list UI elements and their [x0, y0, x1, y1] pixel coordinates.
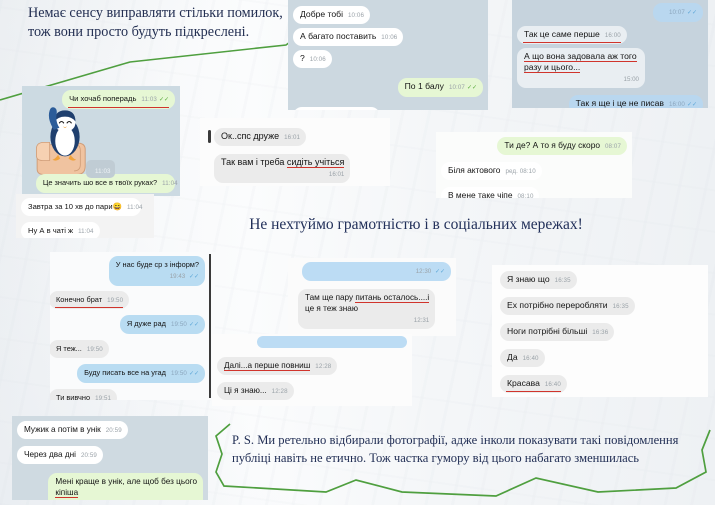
chat-message: Да16:40	[500, 349, 545, 367]
chat-message: Біля актовогоред. 08:10	[441, 162, 542, 180]
chat-message: Буду писать все на угад19:50✓✓	[77, 364, 205, 383]
chat-message: Красава16:40	[500, 375, 567, 393]
chat-panel-top-center: Добре тобі10:06 А багато поставить10:06 …	[288, 0, 488, 110]
chat-message: Завтра за 10 хв до пари😄11:04	[21, 198, 141, 216]
chat-message: Ех потрібно переробляти16:35	[500, 297, 635, 315]
chat-message: x10:07✓✓	[653, 3, 703, 22]
chat-message: Далі...а перше повниш12:28	[217, 357, 337, 375]
chat-message: Я знаю що16:35	[500, 271, 577, 289]
msg-time: 19:43 ✓✓	[116, 271, 199, 283]
chat-message: Я теж...19:50	[50, 340, 109, 358]
chat-message: В мене таке чіпе08:10	[441, 187, 539, 198]
chat-panel-top-right: x10:07✓✓ Так це саме перше16:00 А що вон…	[512, 0, 708, 108]
chat-message: Так вам і треба сидіть учіться16:01	[214, 154, 350, 183]
chat-panel-left-sticker: Чи хочаб поперадь11:03✓✓ Це значить шо в…	[22, 86, 180, 196]
chat-message: 12:30 ✓✓	[302, 262, 451, 281]
chat-message: Ти вивчно19:51	[50, 389, 117, 400]
chat-message: Ну А в чаті ж11:04	[21, 222, 100, 238]
chat-message: Ці я знаю...12:28	[217, 382, 294, 400]
caption-top: Немає сенсу виправляти стільки помилок, …	[28, 4, 300, 42]
chat-message: По 1 балу10:07✓✓	[398, 78, 483, 97]
chat-panel-mid-right: Ти де? А то я буду скоро08:07 Біля актов…	[436, 132, 632, 198]
sticker-timestamp: 11:03	[86, 160, 115, 178]
chat-message: Конечно брат19:50	[50, 291, 129, 309]
chat-panel-bottom-center-lower: Далі...а перше повниш12:28 Ці я знаю...1…	[212, 334, 412, 406]
chat-message: Ок..спс друже16:01	[214, 128, 306, 146]
msg-time: 12:30 ✓✓	[309, 266, 445, 278]
scrollbar[interactable]	[209, 254, 211, 398]
chat-panel-bottom-right: Я знаю що16:35 Ех потрібно переробляти16…	[492, 265, 708, 397]
chat-message: Ти де? А то я буду скоро08:07	[497, 137, 627, 155]
caption-ps: P. S. Ми ретельно відбирали фотографії, …	[232, 432, 694, 467]
chat-message: Так я ще і це не писав16:00✓✓	[569, 95, 703, 108]
chat-message: Думаю спасе10:07	[293, 107, 380, 110]
chat-message: Так це саме перше16:00	[517, 26, 627, 44]
chat-message: Мужик а потім в унік20:59	[17, 421, 128, 439]
chat-panel-bottom-left-blue: У нас буде ср з інформ?19:43 ✓✓ Конечно …	[50, 252, 215, 400]
chat-message: Ноги потрібні більші16:36	[500, 323, 614, 341]
chat-message: Мені краще в унік, але щоб без цьогокіпі…	[48, 473, 203, 500]
chat-panel-left-lower: Завтра за 10 хв до пари😄11:04 Ну А в чат…	[16, 194, 154, 238]
chat-message: Я дуже рад19:50✓✓	[120, 315, 205, 334]
chat-panel-mid-left: Ок..спс друже16:01 Так вам і треба сидіт…	[200, 118, 390, 186]
chat-message: У нас буде ср з інформ?19:43 ✓✓	[109, 256, 205, 286]
msg-time: 20:59 ✓✓	[55, 499, 197, 500]
chat-message: А що вона задовала аж того разу и цього.…	[517, 48, 645, 88]
caption-middle: Не нехтуймо грамотністю і в соціальних м…	[196, 216, 636, 234]
chat-message: Там ще пару питань осталось....іце я теж…	[298, 289, 435, 329]
chat-message: Через два дні20:59	[17, 446, 103, 464]
chat-message	[257, 336, 407, 348]
chat-message: А багато поставить10:06	[293, 28, 403, 46]
avatar-strip	[208, 130, 211, 143]
chat-message: ?10:06	[293, 50, 332, 68]
chat-panel-bottom-center-upper: 12:30 ✓✓ Там ще пару питань осталось....…	[288, 258, 456, 336]
chat-panel-bottom-far-left: Мужик а потім в унік20:59 Через два дні2…	[12, 416, 208, 500]
chat-message: Добре тобі10:06	[293, 6, 370, 24]
